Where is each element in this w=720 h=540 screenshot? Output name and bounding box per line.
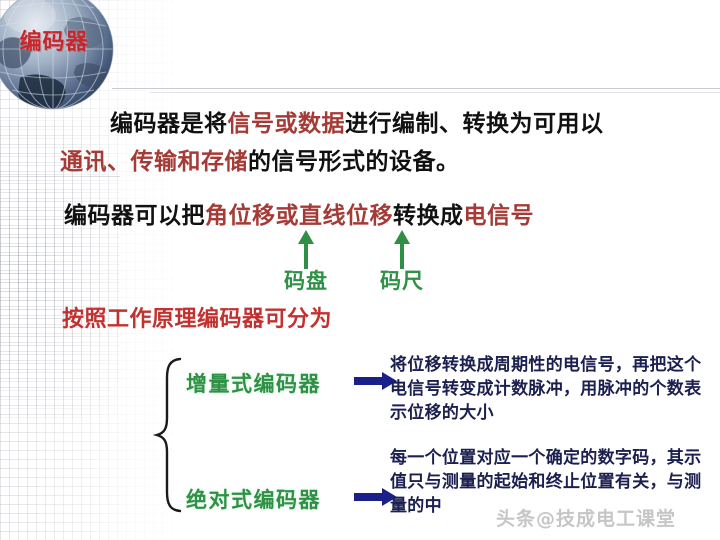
- paragraph2-highlight-signal: 电信号: [464, 202, 535, 229]
- paragraph1-line2: 通讯、传输和存储的信号形式的设备。: [60, 142, 460, 176]
- encoder-description-incremental: 将位移转换成周期性的电信号，再把这个电信号转变成计数脉冲，用脉冲的个数表示位移的…: [390, 353, 706, 425]
- paragraph1-line1-highlight: 信号或数据: [228, 110, 346, 137]
- encoder-label-incremental: 增量式编码器: [186, 368, 321, 398]
- encoder-label-absolute: 绝对式编码器: [186, 484, 321, 514]
- callout-label-disc: 码盘: [284, 265, 328, 295]
- paragraph1-line2-seg2: 的信号形式的设备。: [248, 148, 460, 175]
- paragraph1-line1: 编码器是将信号或数据进行编制、转换为可用以: [110, 104, 604, 138]
- paragraph2-seg5: 转换成: [393, 202, 464, 229]
- decorative-band-line: [150, 92, 720, 93]
- encoder-description-absolute: 每一个位置对应一个确定的数字码，其示值只与测量的起始和终止位置有关，与测量的中: [390, 446, 710, 518]
- paragraph2: 编码器可以把角位移或直线位移转换成电信号: [64, 196, 534, 230]
- globe-graphic: [0, 0, 116, 112]
- paragraph2-seg3: 或: [276, 202, 300, 229]
- background-mesh-texture: [0, 0, 200, 540]
- callout-label-scale: 码尺: [380, 265, 424, 295]
- section-heading: 按照工作原理编码器可分为: [62, 301, 332, 333]
- paragraph2-highlight-angular: 角位移: [205, 202, 276, 229]
- paragraph2-highlight-linear: 直线位移: [299, 202, 393, 229]
- paragraph1-line1-seg3: 进行编制、转换为可用以: [345, 110, 604, 137]
- slide-canvas: 编码器 编码器是将信号或数据进行编制、转换为可用以 通讯、传输和存储的信号形式的…: [0, 0, 720, 540]
- paragraph2-seg1: 编码器可以把: [64, 202, 205, 229]
- paragraph1-line2-highlight: 通讯、传输和存储: [60, 148, 248, 175]
- decorative-band-line: [0, 176, 120, 177]
- page-title: 编码器: [4, 24, 104, 56]
- decorative-band-line: [112, 88, 720, 89]
- grouping-brace: [152, 356, 186, 518]
- paragraph1-line1-seg1: 编码器是将: [110, 110, 228, 137]
